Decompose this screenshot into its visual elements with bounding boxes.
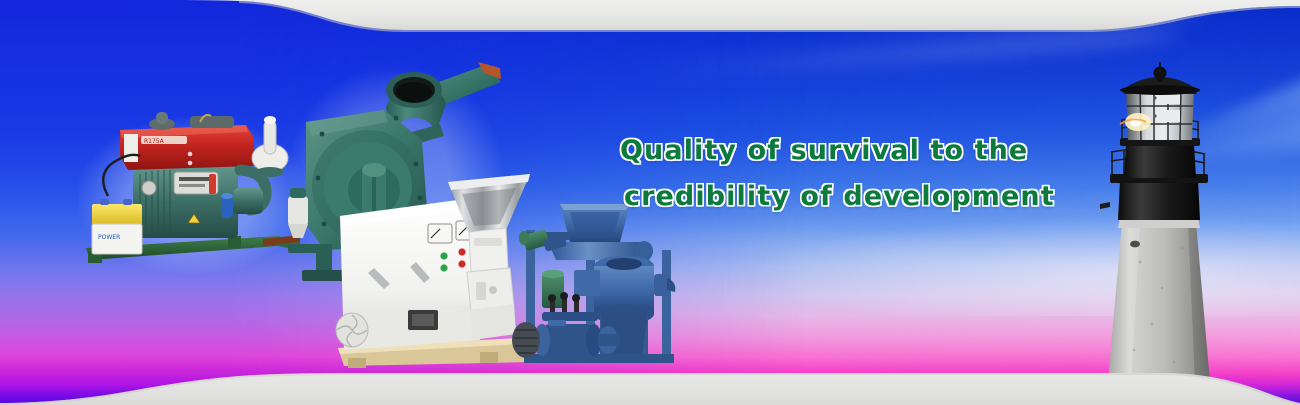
headline-line-2: credibility of development [620,174,1080,220]
headline: Quality of survival to the credibility o… [620,128,1080,220]
promo-banner: R175A POWER [0,0,1300,405]
lighthouse [1100,62,1230,405]
pellet-mill [330,172,540,372]
svg-text:R175A: R175A [144,138,165,145]
svg-text:POWER: POWER [98,234,120,241]
diesel-engine: R175A POWER [78,108,308,273]
headline-line-1: Quality of survival to the [620,128,1080,174]
